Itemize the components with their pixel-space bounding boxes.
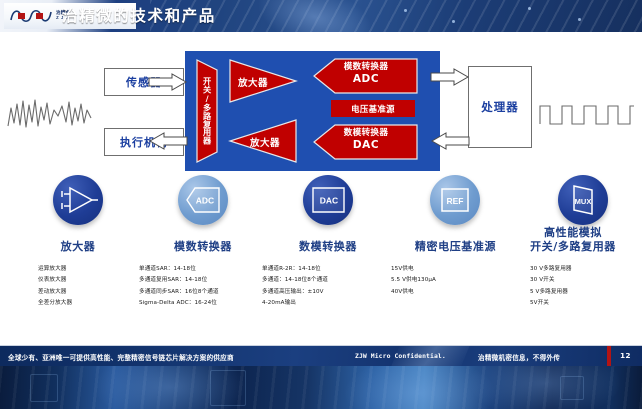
logo-wave-icon	[10, 7, 52, 25]
adc-label-cn: 模数转换器	[321, 63, 411, 73]
mux-icon-text: MUX	[575, 197, 592, 206]
amplifier-top-label: 放大器	[238, 75, 268, 89]
header-dot	[578, 18, 581, 21]
band-shape	[210, 370, 246, 406]
header-dot	[452, 20, 455, 23]
arrow-mux-to-actuator-icon	[148, 132, 188, 150]
category-title-dac: 数模转换器	[258, 238, 398, 254]
mux-icon: MUX	[558, 175, 608, 225]
detail-item: 4-20mA输出	[262, 298, 328, 309]
detail-item: 全差分放大器	[38, 298, 72, 309]
dac-rect-icon: DAC	[303, 175, 353, 225]
analog-waveform-icon	[6, 92, 94, 132]
detail-item: 15V供电	[391, 264, 436, 275]
detail-item: 差动放大器	[38, 287, 72, 298]
ref-icon-text: REF	[447, 196, 464, 206]
detail-list-ref: 15V供电 5.5 V供电130μA 40V供电	[391, 264, 436, 298]
header-stripe-pattern	[150, 0, 642, 32]
dac-label-en: DAC	[321, 139, 411, 151]
product-icon-amplifier[interactable]	[18, 175, 138, 225]
ref-badge: REF	[430, 175, 480, 225]
vref-label: 电压基准源	[351, 103, 395, 115]
product-icon-mux[interactable]: MUX	[523, 175, 642, 225]
band-glow	[470, 366, 620, 409]
category-title-adc: 模数转换器	[133, 238, 273, 254]
detail-item: 30 V开关	[530, 275, 572, 286]
band-shape	[30, 374, 58, 402]
adc-badge: ADC	[178, 175, 228, 225]
page-title: 治精微的技术和产品	[62, 4, 216, 26]
adc-label: 模数转换器 ADC	[321, 63, 411, 85]
amplifier-badge	[53, 175, 103, 225]
footer-page-number: 12	[620, 351, 631, 360]
detail-item: 运算放大器	[38, 264, 72, 275]
processor-block: 处理器	[468, 66, 532, 148]
dac-badge: DAC	[303, 175, 353, 225]
dac-label: 数模转换器 DAC	[321, 129, 411, 151]
category-title-amplifier: 放大器	[18, 238, 138, 254]
band-shape	[560, 376, 584, 400]
dac-label-cn: 数模转换器	[321, 129, 411, 139]
header-dot	[528, 7, 531, 10]
detail-item: 5 V多路复用器	[530, 287, 572, 298]
detail-item: 单通道SAR：14-18位	[139, 264, 219, 275]
adc-icon-text: ADC	[196, 196, 214, 206]
signal-chain-diagram: 传感器 执行机构 处理器 开关/多路复用器	[0, 44, 642, 176]
opamp-triangle-icon	[53, 175, 103, 225]
detail-list-amplifier: 运算放大器 仪表放大器 差动放大器 全差分放大器	[38, 264, 72, 310]
slide-footer: 全球少有、亚洲唯一可提供高性能、完整精密信号链芯片解决方案的供应商 ZJW Mi…	[0, 346, 642, 366]
arrow-adc-to-processor-icon	[430, 68, 470, 86]
arrow-processor-to-dac-icon	[430, 132, 470, 150]
slide-body: 传感器 执行机构 处理器 开关/多路复用器	[0, 32, 642, 345]
header-glow	[248, 0, 381, 32]
adc-label-en: ADC	[321, 73, 411, 85]
detail-item: 5V开关	[530, 298, 572, 309]
detail-list-mux: 30 V多路复用器 30 V开关 5 V多路复用器 5V开关	[530, 264, 572, 310]
detail-item: 5.5 V供电130μA	[391, 275, 436, 286]
slide-header: 治精微 Z J W 治精微的技术和产品	[0, 0, 642, 32]
footer-red-accent	[607, 346, 611, 366]
detail-list-dac: 单通道R-2R：14-18位 多通道：14-18位8个通道 多通道高压输出：±1…	[262, 264, 328, 310]
category-title-mux-line2: 开关/多路复用器	[505, 240, 641, 254]
digital-waveform-icon	[538, 92, 636, 132]
detail-item: 30 V多路复用器	[530, 264, 572, 275]
processor-label: 处理器	[481, 99, 519, 115]
bottom-decorative-band	[0, 366, 642, 409]
detail-item: 多通道同步SAR：16位8个通道	[139, 287, 219, 298]
arrow-sensor-to-mux-icon	[148, 73, 188, 91]
voltage-reference-block: 电压基准源	[331, 100, 415, 117]
product-icon-ref[interactable]: REF	[395, 175, 515, 225]
product-icon-adc[interactable]: ADC	[143, 175, 263, 225]
detail-item: 多通道：14-18位8个通道	[262, 275, 328, 286]
footer-confidential-en: ZJW Micro Confidential.	[355, 352, 446, 360]
product-icon-dac[interactable]: DAC	[268, 175, 388, 225]
ref-square-icon: REF	[430, 175, 480, 225]
detail-list-adc: 单通道SAR：14-18位 多通道复用SAR：14-18位 多通道同步SAR：1…	[139, 264, 219, 310]
detail-item: 多通道高压输出：±10V	[262, 287, 328, 298]
adc-pentagon-icon: ADC	[178, 175, 228, 225]
detail-item: 40V供电	[391, 287, 436, 298]
header-dot	[404, 9, 407, 12]
detail-item: Sigma-Delta ADC：16-24位	[139, 298, 219, 309]
presentation-slide: 治精微 Z J W 治精微的技术和产品 传感器 执行机构	[0, 0, 642, 409]
dac-icon-text: DAC	[320, 196, 338, 206]
footer-confidential-cn: 治精微机密信息，不得外传	[478, 352, 560, 362]
footer-tagline: 全球少有、亚洲唯一可提供高性能、完整精密信号链芯片解决方案的供应商	[8, 352, 234, 362]
detail-item: 单通道R-2R：14-18位	[262, 264, 328, 275]
mux-label: 开关/多路复用器	[199, 63, 215, 159]
detail-item: 仪表放大器	[38, 275, 72, 286]
category-title-mux: 高性能模拟 开关/多路复用器	[505, 226, 641, 254]
detail-item: 多通道复用SAR：14-18位	[139, 275, 219, 286]
amplifier-bottom-label: 放大器	[250, 135, 280, 149]
mux-badge: MUX	[558, 175, 608, 225]
category-title-mux-line1: 高性能模拟	[505, 226, 641, 240]
